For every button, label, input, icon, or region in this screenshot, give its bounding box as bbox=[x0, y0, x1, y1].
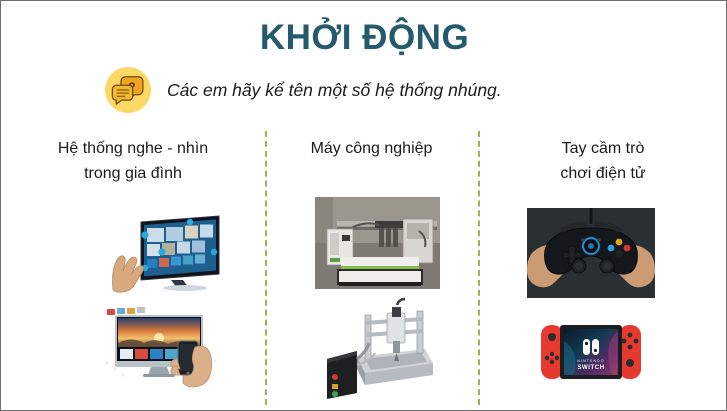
slide-khoi-dong: KHỞI ĐỘNG ? Các em hãy kể tên một số hệ … bbox=[0, 0, 727, 411]
cnc-router-machine-photo bbox=[315, 197, 440, 289]
prompt-row: ? Các em hãy kể tên một số hệ thống nhún… bbox=[105, 67, 625, 113]
nintendo-switch-console-photo: NINTENDO SWITCH bbox=[527, 307, 655, 395]
column-heading-line1: Tay cầm trò bbox=[560, 137, 645, 162]
column-heading-gamepad: Tay cầm trò chơi điện tử bbox=[554, 129, 651, 187]
prompt-text: Các em hãy kể tên một số hệ thống nhúng. bbox=[167, 80, 502, 101]
switch-wordmark-top: NINTENDO bbox=[577, 359, 604, 363]
smart-tv-smartphone-remote-photo bbox=[99, 303, 224, 391]
column-divider-2 bbox=[478, 131, 480, 405]
speech-bubbles-question-icon: ? bbox=[105, 67, 151, 113]
desktop-cnc-milling-machine-photo bbox=[313, 289, 443, 399]
column-heading-line2: chơi điện tử bbox=[560, 162, 645, 187]
game-controller-in-hands-photo bbox=[527, 208, 655, 298]
column-heading-audio-visual: Hệ thống nghe - nhìn trong gia đình bbox=[52, 129, 214, 187]
column-heading-line2: trong gia đình bbox=[58, 162, 208, 187]
smart-tv-gesture-control-photo bbox=[99, 208, 224, 293]
page-title: KHỞI ĐỘNG bbox=[1, 19, 727, 58]
column-heading-line1: Hệ thống nghe - nhìn bbox=[58, 137, 208, 162]
column-heading-industrial: Máy công nghiệp bbox=[305, 129, 439, 162]
column-divider-1 bbox=[265, 131, 267, 405]
switch-wordmark-bottom: SWITCH bbox=[577, 365, 604, 371]
column-heading-line1: Máy công nghiệp bbox=[311, 137, 433, 162]
